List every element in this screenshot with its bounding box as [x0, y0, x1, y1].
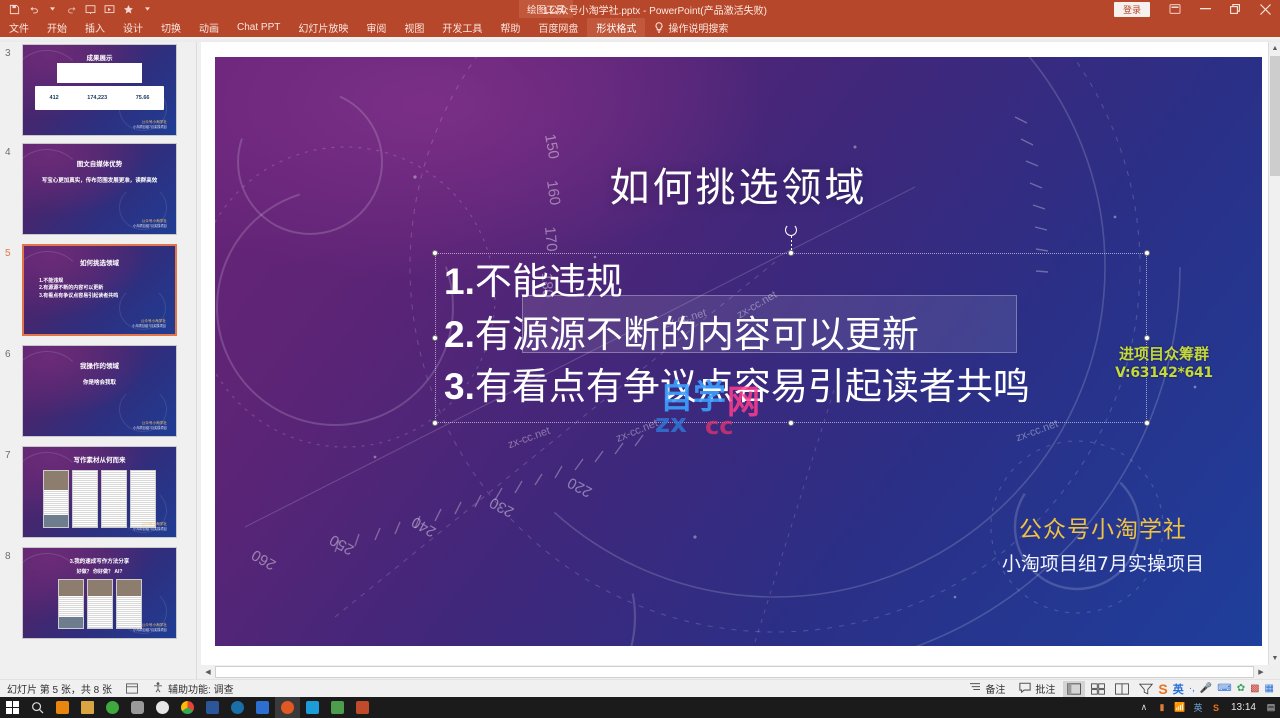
comments-label: 批注 [1035, 681, 1055, 696]
chevron-up-icon[interactable]: ∧ [1135, 697, 1153, 718]
ime-voice-icon[interactable]: 🎤 [1200, 683, 1212, 694]
horizontal-scroll-track[interactable] [215, 666, 1254, 678]
taskbar-clock[interactable]: 13:14 [1225, 702, 1262, 713]
tab-view[interactable]: 视图 [395, 18, 433, 37]
thumb-subtitle: 写宝心更加真实，传布范围发展更准，读群高效 [23, 176, 176, 184]
thumb-title: 成果展示 [23, 52, 176, 62]
ime-menu-icon[interactable]: ▦ [1265, 683, 1274, 694]
svg-text:260: 260 [249, 546, 279, 573]
thumb-card [130, 470, 156, 528]
thumb-subtitle: 好做？ 你好做？ AI? [23, 568, 176, 575]
scroll-right-icon[interactable]: ▶ [1254, 665, 1268, 679]
contextual-tab-label: 绘图工具 [519, 0, 573, 18]
tab-shape-format[interactable]: 形状格式 [587, 18, 645, 37]
svg-text:240: 240 [409, 513, 439, 540]
status-bar: 幻灯片 第 5 张，共 8 张 辅助功能: 调查 备注 批注 [0, 679, 1280, 697]
undo-dropdown-icon[interactable] [44, 1, 61, 17]
thumb-footer-white: 小淘项目组7月实操项目 [133, 224, 167, 228]
bluetooth-app-icon[interactable] [300, 697, 325, 718]
thumb-card-row [23, 579, 176, 629]
network-icon[interactable]: 📶 [1171, 697, 1189, 718]
resize-handle-middle-left[interactable] [432, 335, 438, 341]
document-title-wrap: 1公众号小淘学社.pptx - PowerPoint(产品激活失败) [0, 0, 1280, 18]
title-bar: 绘图工具 1公众号小淘学社.pptx - PowerPoint(产品激活失败) … [0, 0, 1280, 18]
thumb-frame[interactable]: 图文自媒体优势 写宝心更加真实，传布范围发展更准，读群高效 公众号小淘学社 小淘… [22, 143, 177, 235]
current-slide[interactable]: 260 250 240 230 220 150 160 170 180 [215, 57, 1262, 646]
ime-skin-icon[interactable]: ▩ [1250, 683, 1259, 694]
rotation-handle[interactable] [785, 224, 797, 236]
chrome-icon[interactable] [175, 697, 200, 718]
thumb-footer-white: 小淘项目组7月实操项目 [133, 527, 167, 531]
browser-green-icon[interactable] [100, 697, 125, 718]
sign-in-button[interactable]: 登录 [1114, 2, 1150, 17]
tab-review[interactable]: 审阅 [357, 18, 395, 37]
app-blue-icon[interactable] [250, 697, 275, 718]
comment-icon [1019, 682, 1031, 696]
present-icon[interactable] [82, 1, 99, 17]
svg-text:250: 250 [327, 531, 357, 558]
resize-handle-bottom-right[interactable] [1144, 420, 1150, 426]
thumb-footer: 公众号小淘学社 小淘项目组7月实操项目 [133, 421, 167, 430]
qat-more-icon[interactable] [139, 1, 156, 17]
slide-footer: 公众号小淘学社 小淘项目组7月实操项目 [1002, 510, 1204, 576]
ime-toolbox-icon[interactable]: ✿ [1237, 683, 1245, 694]
comments-button[interactable]: 批注 [1012, 680, 1062, 698]
thumb-stat-3: 75.66 [136, 95, 150, 101]
action-center-icon[interactable]: ▤ [1262, 697, 1280, 718]
thumb-card [101, 470, 127, 528]
thumb-card [72, 470, 98, 528]
excel-icon[interactable] [325, 697, 350, 718]
watermark-green-line-1: 进项目众筹群 [1099, 343, 1229, 364]
thumbnail-slide-3[interactable]: 3 成果展示 412 174,223 75.66 公众号小淘学社 小淘项目组7月… [0, 42, 196, 141]
scroll-up-icon[interactable]: ▲ [1269, 42, 1280, 55]
settings-icon[interactable] [150, 697, 175, 718]
accessibility-status[interactable]: 辅助功能: 调查 [145, 680, 241, 698]
thumbnail-slide-6[interactable]: 6 我操作的领域 你是啥会我取 公众号小淘学社 小淘项目组7月实操项目 [0, 343, 196, 444]
ime-punctuation-icon[interactable]: ·, [1189, 683, 1195, 694]
thumb-frame[interactable]: 写作素材从何而来 公众号小淘学社 小淘项目组7月实操项目 [22, 446, 177, 538]
word-icon[interactable] [200, 697, 225, 718]
tab-insert[interactable]: 插入 [76, 18, 114, 37]
tab-home[interactable]: 开始 [38, 18, 76, 37]
thumb-footer: 公众号小淘学社 小淘项目组7月实操项目 [133, 120, 167, 129]
resize-handle-top-left[interactable] [432, 250, 438, 256]
watermark-green-block: 进项目众筹群 V:63142*641 [1099, 343, 1229, 381]
explorer-orange-icon[interactable] [50, 697, 75, 718]
document-title: 1公众号小淘学社.pptx - PowerPoint(产品激活失败) [543, 2, 767, 17]
slideshow-icon[interactable] [1135, 681, 1157, 697]
watermark-blue-text-2: zx [655, 409, 687, 439]
thumb-number: 3 [5, 48, 11, 59]
thumb-number: 8 [5, 551, 11, 562]
thumb-footer-white: 小淘项目组7月实操项目 [132, 324, 166, 328]
thumb-title: 图文自媒体优势 [23, 158, 176, 168]
slide-thumbnail-pane[interactable]: 3 成果展示 412 174,223 75.66 公众号小淘学社 小淘项目组7月… [0, 42, 196, 679]
sogou-icon[interactable]: S [1207, 697, 1225, 718]
thumbnail-slide-5[interactable]: 5 如何挑选领域 1.不能违规 2.有源源不断的内容可以更新 3.有看点有争议点… [0, 242, 196, 343]
notes-label: 备注 [985, 681, 1005, 696]
powerpoint-window: 绘图工具 1公众号小淘学社.pptx - PowerPoint(产品激活失败) … [0, 0, 1280, 718]
close-button[interactable] [1250, 0, 1280, 18]
vertical-scrollbar[interactable]: ▲ ▼ [1268, 42, 1280, 665]
tab-baidu-netdisk[interactable]: 百度网盘 [529, 18, 587, 37]
thumb-subtitle: 你是啥会我取 [23, 378, 176, 386]
svg-text:220: 220 [565, 474, 595, 501]
thumb-title: 如何挑选领域 [24, 257, 175, 267]
watermark-pink-text-2: cc [705, 412, 733, 440]
tell-me-label: 操作说明搜索 [668, 20, 728, 35]
bullet-number-3: 3. [444, 366, 475, 407]
horizontal-scrollbar[interactable]: ◀ ▶ [201, 665, 1268, 679]
ime-chinese-icon[interactable]: 英 [1173, 681, 1184, 697]
thumb-card [43, 470, 69, 528]
reading-view-icon[interactable] [1111, 681, 1133, 697]
ribbon-tab-bar: 文件 开始 插入 设计 切换 动画 Chat PPT 幻灯片放映 审阅 视图 开… [0, 18, 1280, 37]
thumb-card [116, 579, 142, 629]
accessibility-label: 辅助功能: 调查 [168, 681, 234, 696]
status-right-group: 备注 批注 S 英 ·, [962, 680, 1280, 698]
thumb-card-row [23, 470, 176, 528]
thumb-stat-row: 412 174,223 75.66 [35, 86, 164, 109]
resize-handle-bottom-middle[interactable] [788, 420, 794, 426]
scroll-down-icon[interactable]: ▼ [1269, 652, 1280, 665]
bullet-line-3: 3.有看点有争议点容易引起读者共鸣 [444, 361, 1146, 414]
quick-access-toolbar [0, 1, 156, 17]
ribbon-display-options-icon[interactable] [1160, 0, 1190, 18]
thumb-title: 3.我的速成写作方法分享 [23, 557, 176, 565]
tab-slideshow[interactable]: 幻灯片放映 [289, 18, 357, 37]
ime-tray-group: S 英 ·, 🎤 ⌨ ✿ ▩ ▦ [1158, 681, 1280, 697]
windows-taskbar: ∧ ▮ 📶 英 S 13:14 ▤ [0, 697, 1280, 718]
thumbnail-list: 3 成果展示 412 174,223 75.66 公众号小淘学社 小淘项目组7月… [0, 42, 196, 646]
slide-sorter-icon[interactable] [1087, 681, 1109, 697]
thumb-stat-2: 174,223 [87, 95, 107, 101]
thumb-stat-1: 412 [50, 95, 59, 101]
slide-footer-gold: 公众号小淘学社 [1002, 510, 1204, 544]
system-tray: ∧ ▮ 📶 英 S 13:14 ▤ [1135, 697, 1280, 718]
thumbnail-slide-4[interactable]: 4 图文自媒体优势 写宝心更加真实，传布范围发展更准，读群高效 公众号小淘学社 … [0, 141, 196, 242]
thumb-frame[interactable]: 我操作的领域 你是啥会我取 公众号小淘学社 小淘项目组7月实操项目 [22, 345, 177, 437]
start-icon[interactable] [0, 697, 25, 718]
thumb-number: 4 [5, 147, 11, 158]
notes-button[interactable]: 备注 [962, 680, 1012, 698]
thumbnail-slide-8[interactable]: 8 3.我的速成写作方法分享 好做？ 你好做？ AI? 公众号小淘学社 小淘项目… [0, 545, 196, 646]
star-icon[interactable] [120, 1, 137, 17]
thumb-footer: 公众号小淘学社 小淘项目组7月实操项目 [133, 219, 167, 228]
thumb-title: 我操作的领域 [23, 360, 176, 370]
thumb-white-box [57, 63, 143, 83]
thumb-number: 7 [5, 450, 11, 461]
folder-icon[interactable] [75, 697, 100, 718]
lightbulb-icon [654, 22, 664, 33]
slide-editing-area[interactable]: 260 250 240 230 220 150 160 170 180 [201, 42, 1268, 665]
thumb-card [87, 579, 113, 629]
watermark-overlay-box [522, 295, 1017, 353]
thumb-line-3: 3.有看点有争议点容易引起读者共鸣 [39, 293, 118, 301]
bullet-number-1: 1. [444, 261, 475, 302]
redo-icon[interactable] [63, 1, 80, 17]
thumb-footer-white: 小淘项目组7月实操项目 [133, 426, 167, 430]
thumb-footer: 公众号小淘学社 小淘项目组7月实操项目 [133, 623, 167, 632]
sogou-icon[interactable]: S [1158, 681, 1167, 697]
bullet-number-2: 2. [444, 314, 475, 355]
slide-title[interactable]: 如何挑选领域 [215, 155, 1262, 213]
security-icon[interactable]: ▮ [1153, 697, 1171, 718]
tab-chat-ppt[interactable]: Chat PPT [228, 18, 289, 37]
thumb-line-2: 2.有源源不断的内容可以更新 [39, 285, 118, 293]
tab-transitions[interactable]: 切换 [152, 18, 190, 37]
thumb-number: 6 [5, 349, 11, 360]
svg-text:170: 170 [541, 226, 560, 252]
slide-footer-white: 小淘项目组7月实操项目 [1002, 549, 1204, 576]
thumb-footer-white: 小淘项目组7月实操项目 [133, 125, 167, 129]
notes-icon [969, 682, 981, 695]
edge-icon[interactable] [225, 697, 250, 718]
app-gray-icon[interactable] [125, 697, 150, 718]
tab-developer[interactable]: 开发工具 [433, 18, 491, 37]
tell-me-box[interactable]: 操作说明搜索 [645, 18, 737, 37]
search-icon[interactable] [25, 697, 50, 718]
minimize-button[interactable] [1190, 0, 1220, 18]
normal-view-icon[interactable] [1063, 681, 1085, 697]
rotation-stem [791, 236, 792, 250]
language-icon[interactable] [119, 680, 145, 698]
accessibility-icon [152, 681, 164, 696]
vertical-scroll-thumb[interactable] [1270, 56, 1280, 176]
thumb-frame[interactable]: 3.我的速成写作方法分享 好做？ 你好做？ AI? 公众号小淘学社 小淘项目组7… [22, 547, 177, 639]
tab-design[interactable]: 设计 [114, 18, 152, 37]
restore-button[interactable] [1220, 0, 1250, 18]
thumb-frame[interactable]: 如何挑选领域 1.不能违规 2.有源源不断的内容可以更新 3.有看点有争议点容易… [22, 244, 177, 336]
svg-text:230: 230 [487, 494, 517, 521]
window-controls: 登录 [1114, 0, 1280, 18]
thumb-card [58, 579, 84, 629]
tab-animations[interactable]: 动画 [190, 18, 228, 37]
save-icon[interactable] [6, 1, 23, 17]
firefox-icon[interactable] [275, 697, 300, 718]
resize-handle-bottom-left[interactable] [432, 420, 438, 426]
thumb-title: 写作素材从何而来 [23, 454, 176, 464]
thumb-number: 5 [5, 248, 11, 259]
powerpoint-icon[interactable] [350, 697, 375, 718]
watermark-tiny-3: zx-cc.net [506, 425, 551, 451]
thumb-body: 1.不能违规 2.有源源不断的内容可以更新 3.有看点有争议点容易引起读者共鸣 [39, 278, 118, 301]
thumbnail-slide-7[interactable]: 7 写作素材从何而来 公众号小淘学社 小淘项目组7月实操项目 [0, 444, 196, 545]
thumb-frame[interactable]: 成果展示 412 174,223 75.66 公众号小淘学社 小淘项目组7月实操… [22, 44, 177, 136]
undo-icon[interactable] [25, 1, 42, 17]
thumb-footer: 公众号小淘学社 小淘项目组7月实操项目 [133, 522, 167, 531]
scroll-left-icon[interactable]: ◀ [201, 665, 215, 679]
slide-count-indicator[interactable]: 幻灯片 第 5 张，共 8 张 [0, 680, 119, 698]
tab-help[interactable]: 帮助 [491, 18, 529, 37]
thumb-footer: 公众号小淘学社 小淘项目组7月实操项目 [132, 319, 166, 328]
ime-chinese-icon[interactable]: 英 [1189, 697, 1207, 718]
tab-file[interactable]: 文件 [0, 18, 38, 37]
watermark-green-line-2: V:63142*641 [1099, 365, 1229, 381]
thumb-footer-white: 小淘项目组7月实操项目 [133, 628, 167, 632]
ime-keyboard-icon[interactable]: ⌨ [1217, 683, 1231, 694]
present-from-start-icon[interactable] [101, 1, 118, 17]
